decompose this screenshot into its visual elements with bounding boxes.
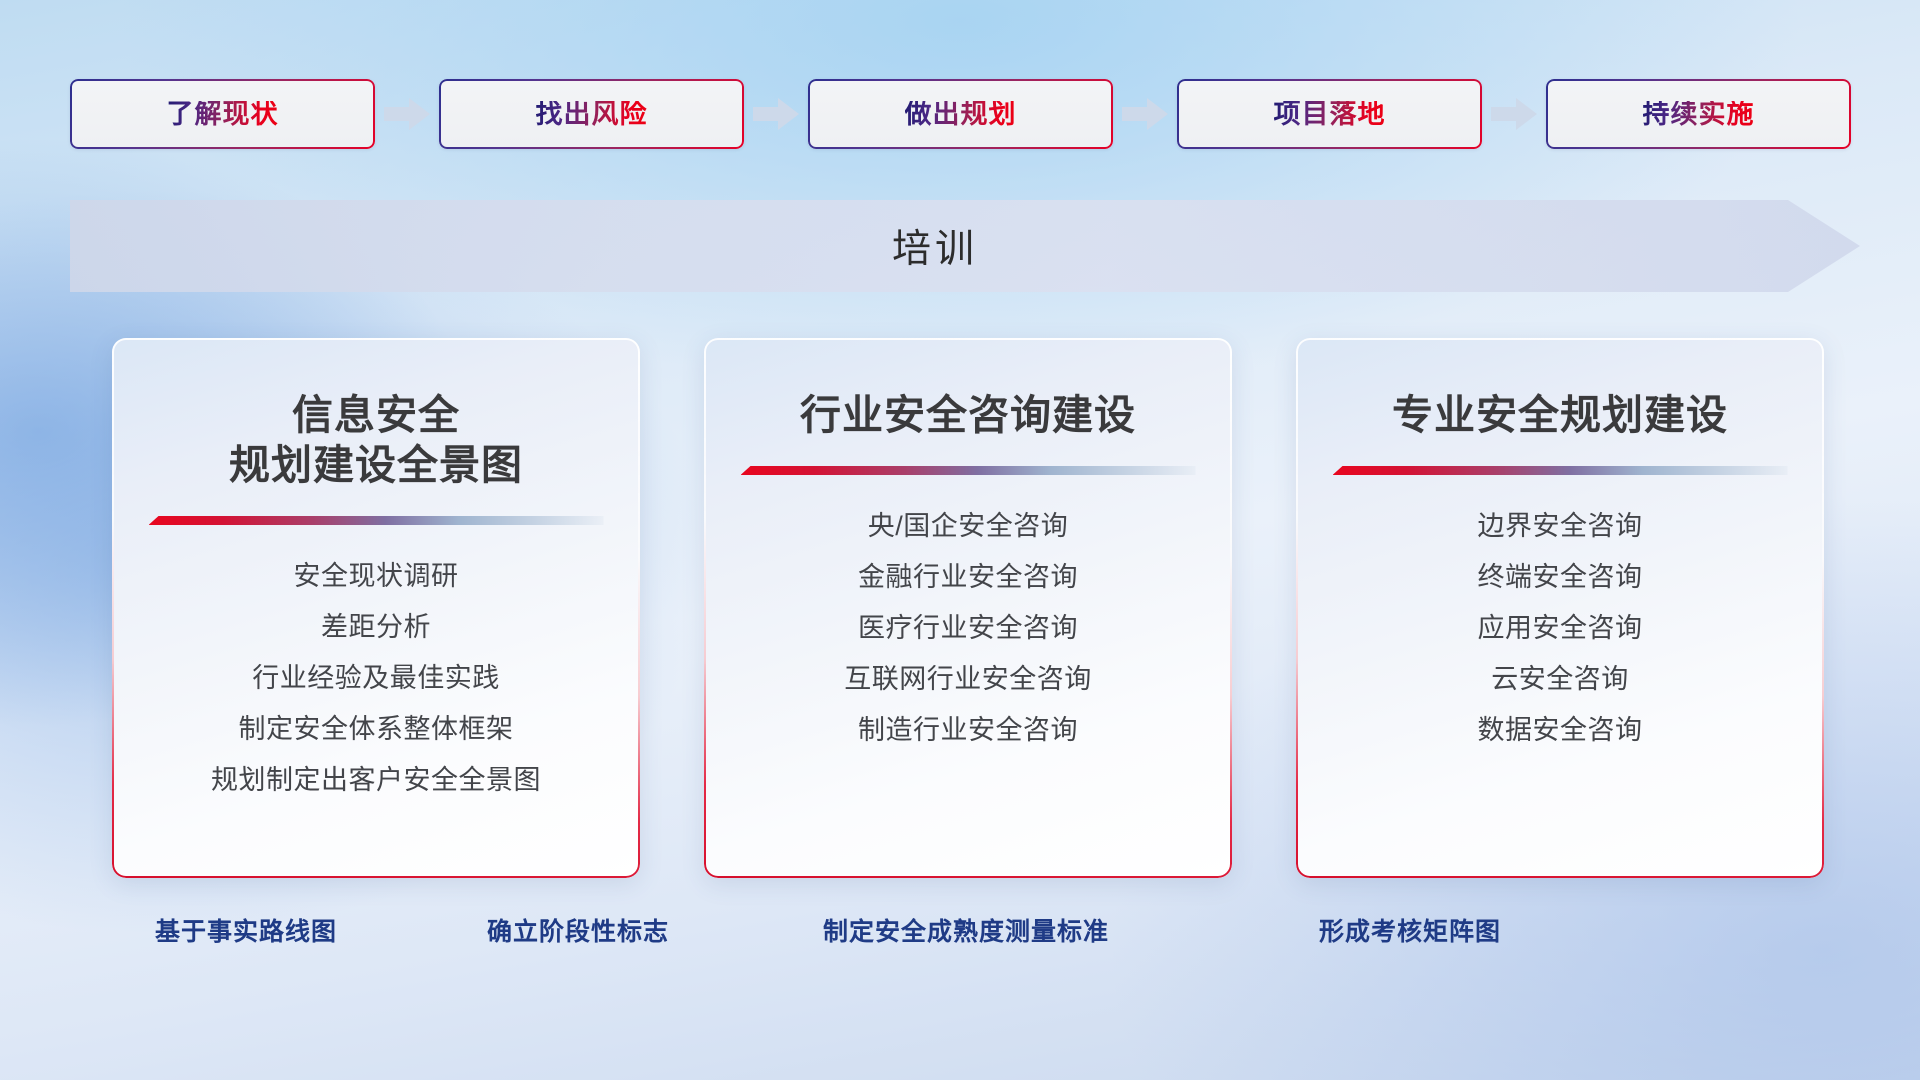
card-3-divider (1333, 466, 1788, 475)
step-box-2[interactable]: 找出风险 (439, 79, 744, 149)
footer-label-1: 基于事实路线图 (155, 912, 337, 948)
list-item: 制造行业安全咨询 (844, 705, 1092, 756)
list-item: 医疗行业安全咨询 (844, 603, 1092, 654)
list-item: 安全现状调研 (211, 551, 541, 602)
card-3-title: 专业安全规划建设 (1392, 390, 1728, 440)
list-item: 金融行业安全咨询 (844, 552, 1092, 603)
step-box-1[interactable]: 了解现状 (70, 79, 375, 149)
list-item: 云安全咨询 (1478, 654, 1643, 705)
footer-label-3: 制定安全成熟度测量标准 (823, 912, 1109, 948)
card-2-list: 央/国企安全咨询 金融行业安全咨询 医疗行业安全咨询 互联网行业安全咨询 制造行… (844, 501, 1092, 756)
footer-label-4: 形成考核矩阵图 (1319, 912, 1501, 948)
card-2[interactable]: 行业安全咨询建设 央/国企安全咨询 金融行业安全咨询 医疗行业安全咨询 互联网行… (704, 338, 1232, 878)
card-3-list: 边界安全咨询 终端安全咨询 应用安全咨询 云安全咨询 数据安全咨询 (1478, 501, 1643, 756)
list-item: 边界安全咨询 (1478, 501, 1643, 552)
list-item: 差距分析 (211, 602, 541, 653)
card-1-title-line-2: 规划建设全景图 (229, 440, 523, 490)
step-box-3[interactable]: 做出规划 (808, 79, 1113, 149)
card-1-list: 安全现状调研 差距分析 行业经验及最佳实践 制定安全体系整体框架 规划制定出客户… (211, 551, 541, 806)
step-arrow-icon-2 (744, 98, 808, 130)
footer-label-row: 基于事实路线图 确立阶段性标志 制定安全成熟度测量标准 形成考核矩阵图 (0, 912, 1920, 958)
step-arrow-icon-3 (1113, 98, 1177, 130)
list-item: 互联网行业安全咨询 (844, 654, 1092, 705)
step-arrow-icon-4 (1482, 98, 1546, 130)
list-item: 应用安全咨询 (1478, 603, 1643, 654)
card-1-title-line-1: 信息安全 (229, 390, 523, 440)
step-box-5[interactable]: 持续实施 (1546, 79, 1851, 149)
card-1-title: 信息安全 规划建设全景图 (229, 390, 523, 490)
footer-label-2: 确立阶段性标志 (487, 912, 669, 948)
card-1-divider (149, 516, 604, 525)
process-steps: 了解现状 找出风险 做出规划 项目落地 (70, 78, 1850, 150)
list-item: 行业经验及最佳实践 (211, 653, 541, 704)
card-2-title-line-1: 行业安全咨询建设 (800, 390, 1136, 440)
card-3-title-line-1: 专业安全规划建设 (1392, 390, 1728, 440)
step-box-4[interactable]: 项目落地 (1177, 79, 1482, 149)
step-label-2: 找出风险 (536, 101, 648, 128)
slide-canvas: 了解现状 找出风险 做出规划 项目落地 (0, 0, 1920, 1080)
step-label-3: 做出规划 (905, 101, 1017, 128)
list-item: 终端安全咨询 (1478, 552, 1643, 603)
step-label-4: 项目落地 (1274, 101, 1386, 128)
step-arrow-icon-1 (375, 98, 439, 130)
banner-title: 培训 (70, 200, 1860, 292)
step-label-5: 持续实施 (1643, 101, 1755, 128)
step-label-1: 了解现状 (167, 101, 279, 128)
list-item: 央/国企安全咨询 (844, 501, 1092, 552)
card-group: 信息安全 规划建设全景图 安全现状调研 差距分析 行业经验及最佳实践 制定安全体… (112, 338, 1824, 878)
training-banner: 培训 (70, 200, 1860, 292)
card-1[interactable]: 信息安全 规划建设全景图 安全现状调研 差距分析 行业经验及最佳实践 制定安全体… (112, 338, 640, 878)
card-2-divider (741, 466, 1196, 475)
card-2-title: 行业安全咨询建设 (800, 390, 1136, 440)
card-3[interactable]: 专业安全规划建设 边界安全咨询 终端安全咨询 应用安全咨询 云安全咨询 数据安全… (1296, 338, 1824, 878)
list-item: 数据安全咨询 (1478, 705, 1643, 756)
list-item: 制定安全体系整体框架 (211, 704, 541, 755)
list-item: 规划制定出客户安全全景图 (211, 755, 541, 806)
